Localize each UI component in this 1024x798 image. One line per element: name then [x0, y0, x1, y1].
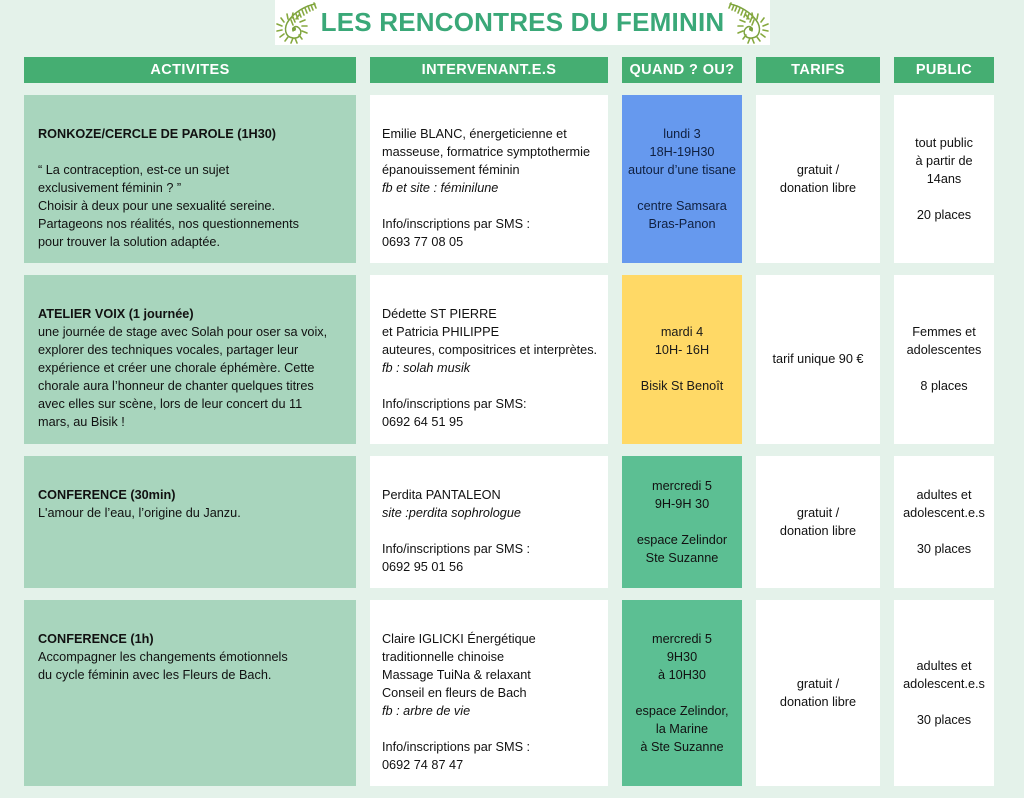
cell-intervenant: Emilie BLANC, énergeticienne et masseuse… — [370, 95, 608, 263]
table-row: CONFERENCE (30min)L'amour de l’eau, l’or… — [24, 456, 1000, 588]
column-header-intervenants: INTERVENANT.E.S — [370, 57, 608, 83]
fern-spiral-ornament-right — [728, 2, 774, 44]
title-banner: LES RENCONTRES DU FEMININ — [275, 0, 770, 45]
cell-activite: RONKOZE/CERCLE DE PAROLE (1H30) “ La con… — [24, 95, 356, 263]
cell-tarif: tarif unique 90 € — [756, 275, 880, 443]
cell-quand-ou: mercredi 5 9H-9H 30 espace Zelindor Ste … — [622, 456, 742, 588]
intervenant-contact: Info/inscriptions par SMS : 0693 77 08 0… — [382, 217, 530, 249]
column-header-public: PUBLIC — [894, 57, 994, 83]
column-header-tarifs: TARIFS — [756, 57, 880, 83]
table-row: CONFERENCE (1h)Accompagner les changemen… — [24, 600, 1000, 786]
intervenant-contact: Info/inscriptions par SMS : 0692 74 87 4… — [382, 740, 530, 772]
activite-title: ATELIER VOIX (1 journée) — [38, 305, 344, 323]
cell-tarif: gratuit / donation libre — [756, 95, 880, 263]
cell-intervenant: Dédette ST PIERRE et Patricia PHILIPPE a… — [370, 275, 608, 443]
table-header-row: ACTIVITES INTERVENANT.E.S QUAND ? OU? TA… — [24, 57, 1000, 83]
intervenant-link: fb et site : féminilune — [382, 179, 598, 197]
intervenant-name: Emilie BLANC, énergeticienne et masseuse… — [382, 127, 590, 177]
cell-tarif: gratuit / donation libre — [756, 456, 880, 588]
cell-quand-ou: lundi 3 18H-19H30 autour d’une tisane ce… — [622, 95, 742, 263]
page-title: LES RENCONTRES DU FEMININ — [321, 7, 725, 38]
cell-activite: CONFERENCE (1h)Accompagner les changemen… — [24, 600, 356, 786]
activite-title: CONFERENCE (30min) — [38, 486, 344, 504]
intervenant-link: site :perdita sophrologue — [382, 504, 598, 522]
column-header-activites: ACTIVITES — [24, 57, 356, 83]
cell-quand-ou: mercredi 5 9H30 à 10H30 espace Zelindor,… — [622, 600, 742, 786]
cell-activite: CONFERENCE (30min)L'amour de l’eau, l’or… — [24, 456, 356, 588]
table-row: RONKOZE/CERCLE DE PAROLE (1H30) “ La con… — [24, 95, 1000, 263]
cell-tarif: gratuit / donation libre — [756, 600, 880, 786]
activite-title: CONFERENCE (1h) — [38, 630, 344, 648]
intervenant-contact: Info/inscriptions par SMS : 0692 95 01 5… — [382, 542, 530, 574]
activite-title: RONKOZE/CERCLE DE PAROLE (1H30) — [38, 125, 344, 143]
cell-public: Femmes et adolescentes 8 places — [894, 275, 994, 443]
cell-activite: ATELIER VOIX (1 journée)une journée de s… — [24, 275, 356, 443]
cell-quand-ou: mardi 4 10H- 16H Bisik St Benoît — [622, 275, 742, 443]
table-row: ATELIER VOIX (1 journée)une journée de s… — [24, 275, 1000, 443]
cell-intervenant: Claire IGLICKI Énergétique traditionnell… — [370, 600, 608, 786]
activite-description: une journée de stage avec Solah pour ose… — [38, 325, 327, 429]
fern-spiral-ornament-left — [271, 2, 317, 44]
intervenant-link: fb : solah musik — [382, 359, 598, 377]
cell-intervenant: Perdita PANTALEON site :perdita sophrolo… — [370, 456, 608, 588]
intervenant-link: fb : arbre de vie — [382, 702, 598, 720]
schedule-table: ACTIVITES INTERVENANT.E.S QUAND ? OU? TA… — [24, 57, 1000, 798]
intervenant-name: Perdita PANTALEON — [382, 488, 501, 502]
cell-public: adultes et adolescent.e.s 30 places — [894, 456, 994, 588]
column-header-quand: QUAND ? OU? — [622, 57, 742, 83]
activite-description: “ La contraception, est-ce un sujet excl… — [38, 163, 299, 249]
intervenant-contact: Info/inscriptions par SMS: 0692 64 51 95 — [382, 397, 527, 429]
intervenant-name: Claire IGLICKI Énergétique traditionnell… — [382, 632, 536, 700]
activite-description: Accompagner les changements émotionnels … — [38, 650, 288, 682]
intervenant-name: Dédette ST PIERRE et Patricia PHILIPPE a… — [382, 307, 597, 357]
activite-description: L'amour de l’eau, l’origine du Janzu. — [38, 506, 241, 520]
cell-public: tout public à partir de 14ans 20 places — [894, 95, 994, 263]
cell-public: adultes et adolescent.e.s 30 places — [894, 600, 994, 786]
